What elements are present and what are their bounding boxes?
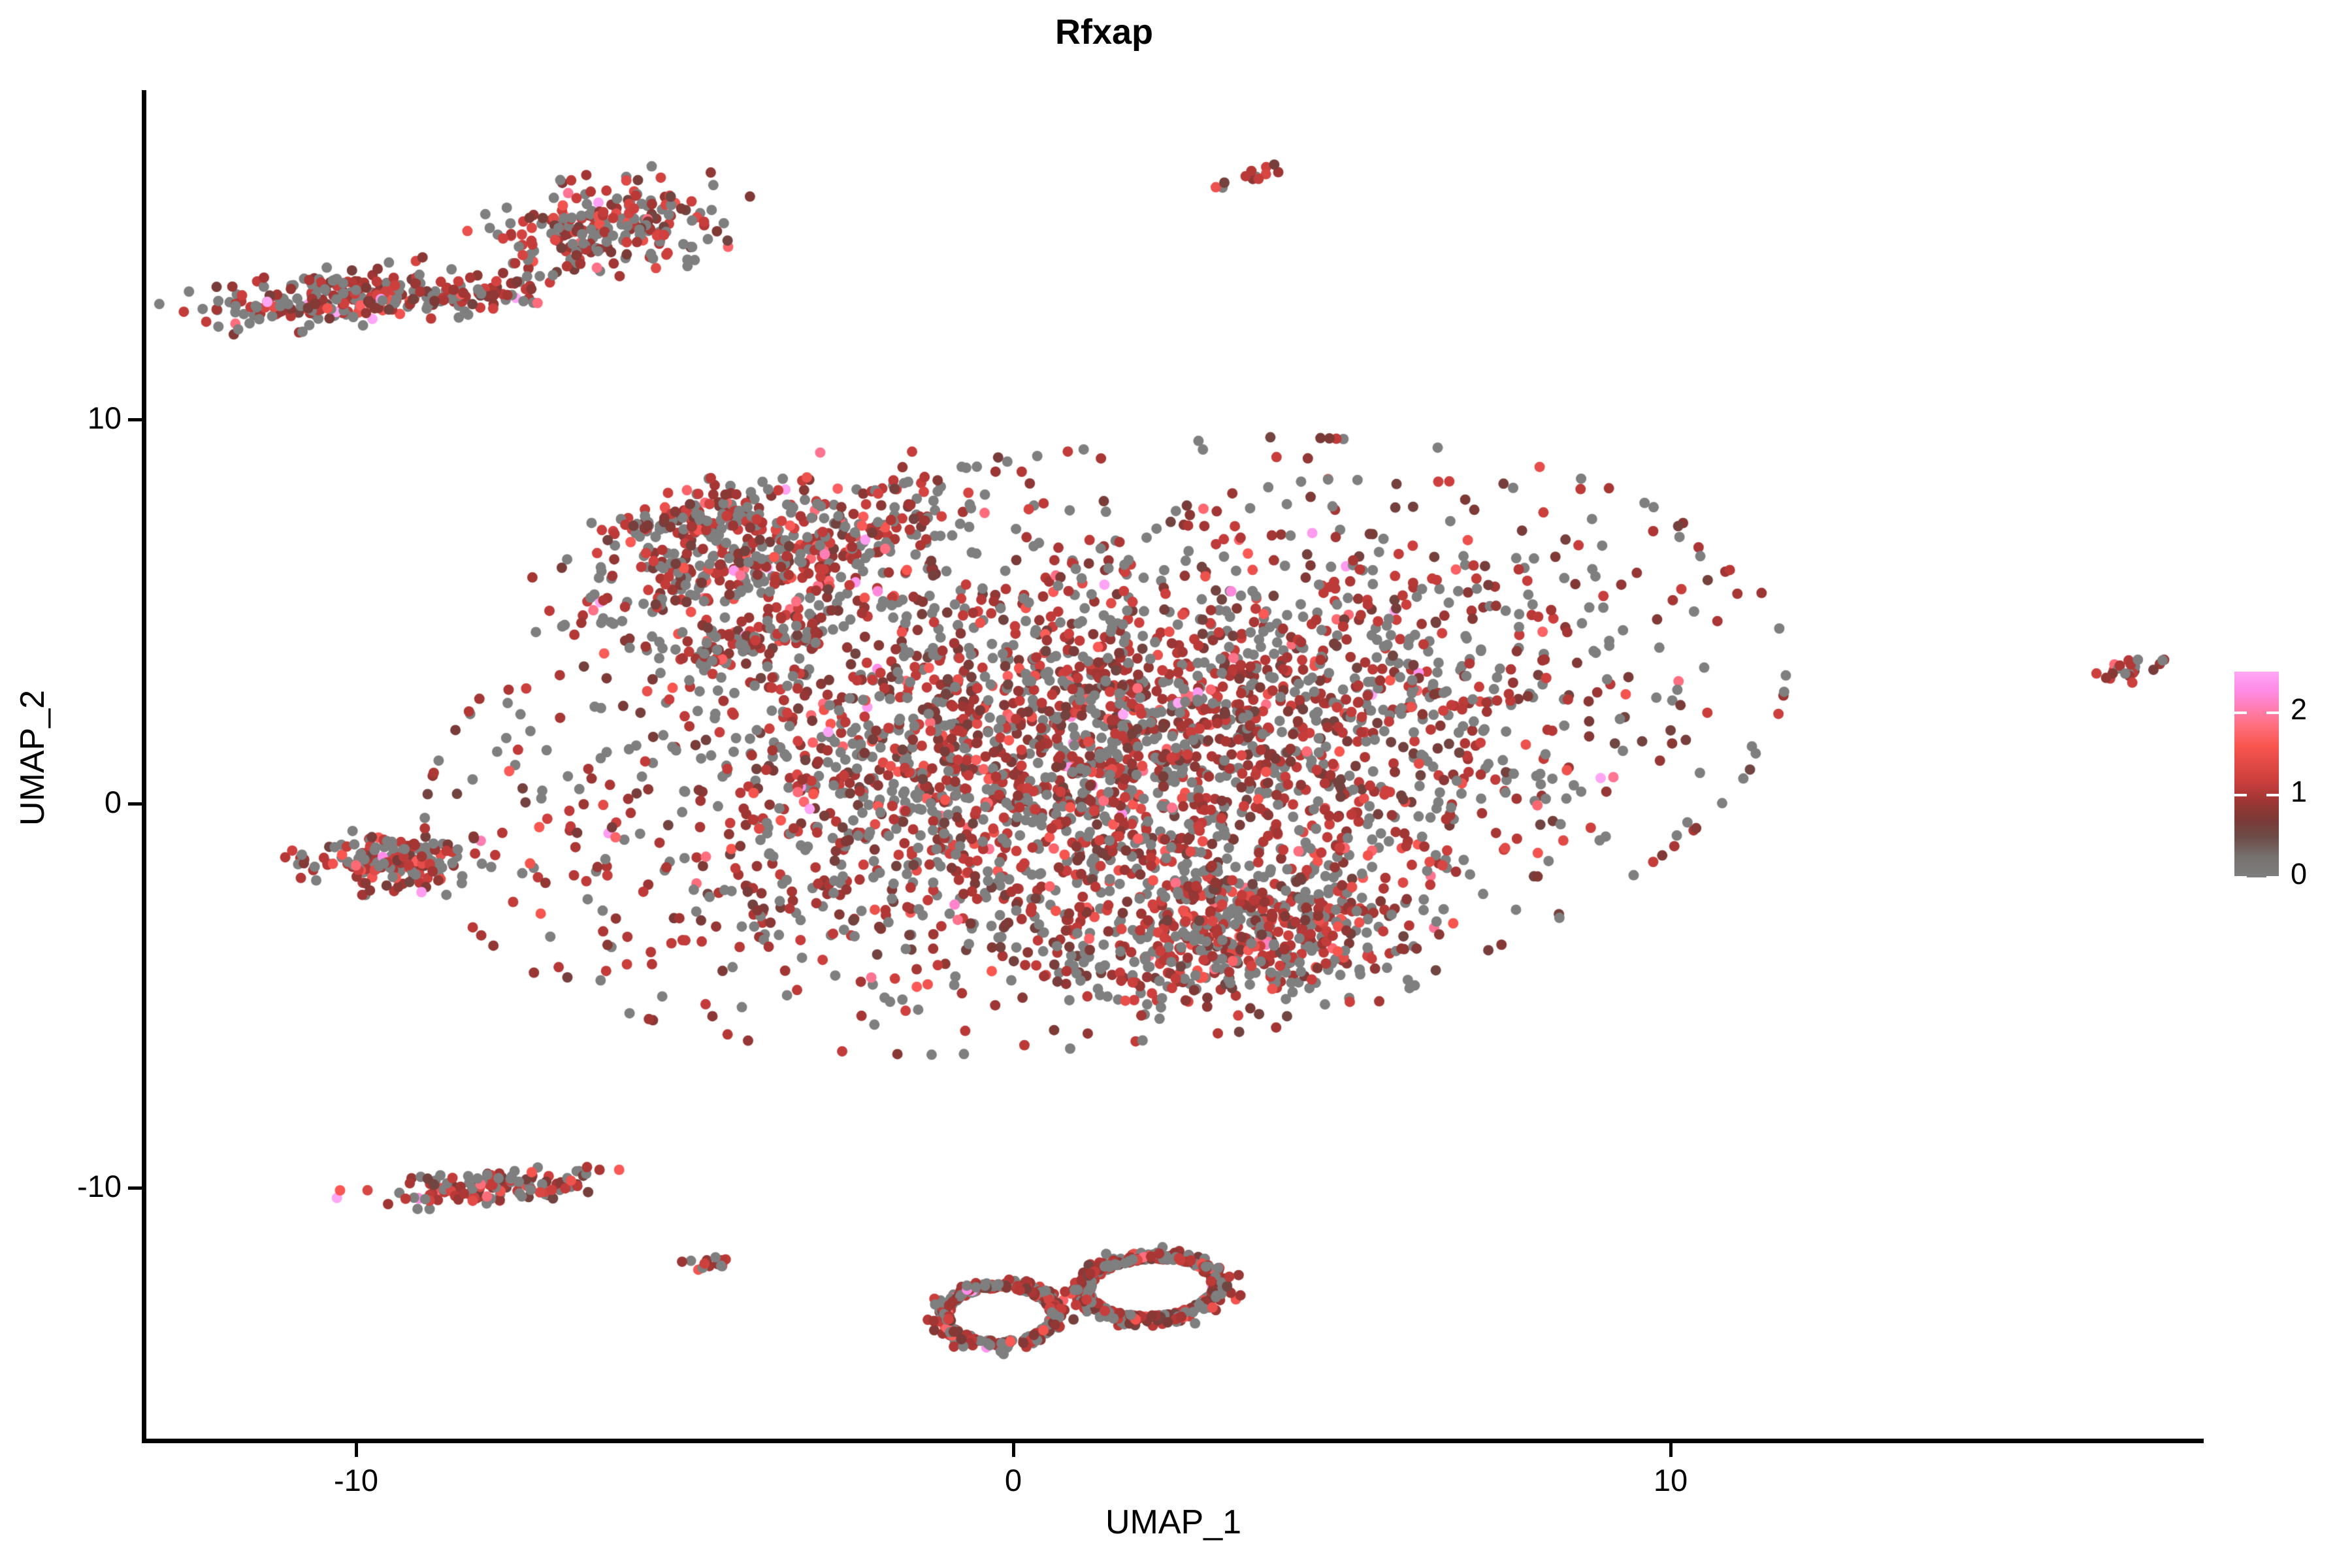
x-tick-label-0: 0: [915, 1462, 1111, 1498]
x-tick-mark-10: [1669, 1443, 1673, 1457]
page-title: Rfxap: [0, 12, 2208, 52]
colorbar-gradient: [2234, 672, 2279, 877]
colorbar-label-1: 1: [2291, 777, 2307, 806]
y-tick-mark-0: [128, 802, 142, 806]
colorbar-label-2: 2: [2291, 694, 2307, 724]
x-axis-line: [142, 1439, 2204, 1443]
x-tick-label--10: -10: [258, 1462, 454, 1498]
colorbar-tick-0-right: [2266, 876, 2279, 879]
plot-panel: [144, 90, 2203, 1441]
y-tick-mark-10: [128, 418, 142, 421]
scatter-points-canvas: [144, 90, 2203, 1441]
colorbar-tick-2-right: [2266, 711, 2279, 714]
colorbar-tick-1-right: [2266, 794, 2279, 796]
y-tick-mark--10: [128, 1186, 142, 1190]
colorbar-tick-1-left: [2234, 794, 2247, 796]
x-axis-title: UMAP_1: [144, 1503, 2203, 1542]
feature-plot-root: Rfxap -10010 -10010 UMAP_1 UMAP_2 012: [0, 0, 2352, 1568]
colorbar-tick-2-left: [2234, 711, 2247, 714]
y-axis-line: [142, 90, 146, 1443]
y-axis-title: UMAP_2: [13, 72, 52, 1444]
x-tick-mark--10: [355, 1443, 358, 1457]
colorbar-tick-0-left: [2234, 876, 2247, 879]
colorbar-label-0: 0: [2291, 859, 2307, 889]
x-tick-mark-0: [1012, 1443, 1015, 1457]
x-tick-label-10: 10: [1573, 1462, 1769, 1498]
